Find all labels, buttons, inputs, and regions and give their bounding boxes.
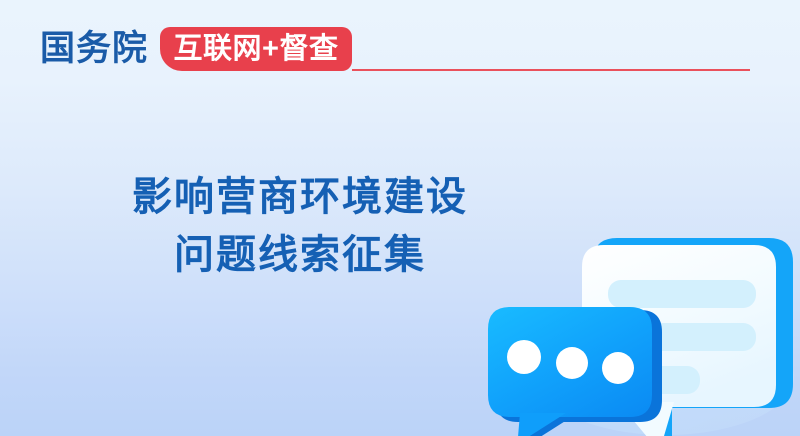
message-bubble-small-dot-1: [507, 340, 541, 374]
message-bubble-small-dot-3: [602, 352, 634, 384]
header-bar: 国务院 互联网+督查: [0, 0, 800, 100]
program-badge: 互联网+督查: [160, 27, 352, 71]
message-bubble-small: [488, 307, 662, 436]
message-bubble-large-bar-1: [608, 280, 756, 308]
banner: 国务院 互联网+督查 影响营商环境建设 问题线索征集: [0, 0, 800, 436]
message-bubble-small-dot-2: [556, 347, 588, 379]
brand-name: 国务院: [40, 27, 148, 71]
header-divider-rule: [352, 69, 750, 71]
chat-bubbles-illustration: [470, 205, 800, 436]
program-badge-label: 互联网+督查: [160, 27, 352, 71]
